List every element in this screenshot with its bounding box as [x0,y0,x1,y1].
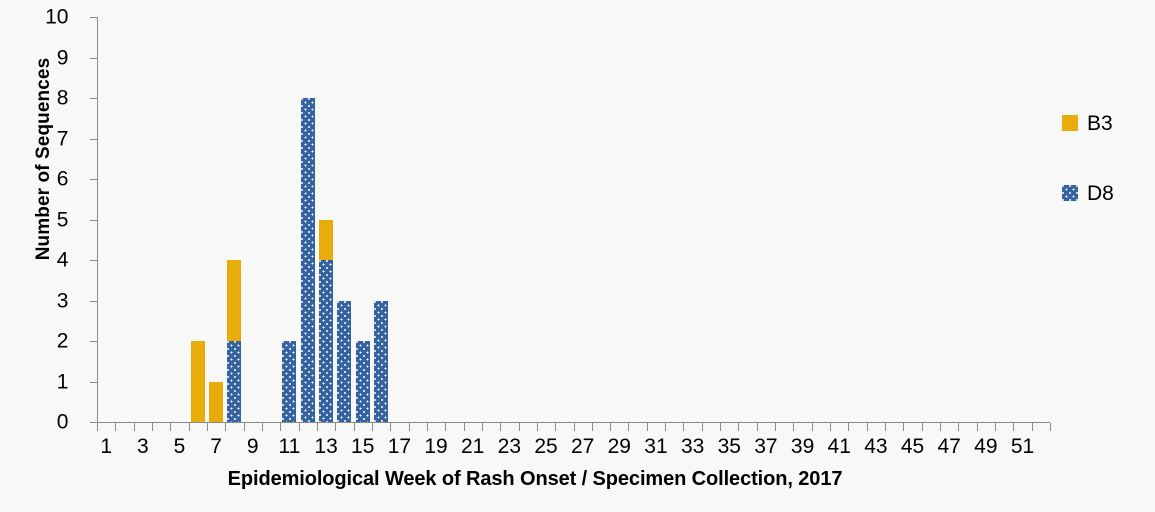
y-axis-tick-label: 8 [8,88,68,109]
x-axis-tick [97,423,98,431]
x-axis-title: Epidemiological Week of Rash Onset / Spe… [0,468,1070,491]
y-axis-tick [90,98,97,99]
x-axis-tick [922,423,923,431]
bar-stack [319,220,333,423]
bar-stack [227,260,241,422]
x-axis-tick [409,423,410,431]
y-axis-tick [90,220,97,221]
legend-swatch-icon [1062,115,1078,131]
bar-segment-d8 [319,260,333,422]
x-axis-tick [464,423,465,431]
bar-stack [301,98,315,422]
x-axis-tick [372,423,373,431]
y-axis-tick [90,382,97,383]
x-axis-tick [665,423,666,431]
x-axis-tick [647,423,648,431]
x-axis-tick [299,423,300,431]
legend: B3D8 [1062,112,1114,252]
x-axis-tick [574,423,575,431]
x-axis-tick [335,423,336,431]
y-axis-tick [90,58,97,59]
x-axis-tick [445,423,446,431]
x-axis-tick [1050,423,1051,431]
y-axis-tick [90,179,97,180]
plot-area: 012345678910 135791113151719212325272931… [97,17,1050,422]
x-axis-tick [262,423,263,431]
x-axis-tick [317,423,318,431]
legend-label: B3 [1087,113,1113,134]
bar-segment-d8 [301,98,315,422]
bar-stack [209,382,223,423]
bar-segment-b3 [227,260,241,341]
bar-segment-b3 [191,341,205,422]
x-axis-tick [427,423,428,431]
x-axis-tick [738,423,739,431]
y-axis-tick [90,301,97,302]
bar-segment-d8 [374,301,388,423]
x-axis-tick [867,423,868,431]
x-axis-tick [225,423,226,431]
legend-swatch-icon [1062,185,1078,201]
bar-segment-b3 [209,382,223,423]
bar-segment-d8 [282,341,296,422]
x-axis-tick [1013,423,1014,431]
bar-segment-b3 [319,220,333,261]
x-axis-tick-label: 51 [1000,436,1046,457]
x-axis-tick [482,423,483,431]
x-axis-tick [848,423,849,431]
y-axis-tick [90,341,97,342]
x-axis-tick [280,423,281,431]
y-axis-tick [90,260,97,261]
x-axis-tick [354,423,355,431]
x-axis-tick [500,423,501,431]
y-axis-tick-label: 4 [8,250,68,271]
y-axis-tick-label: 7 [8,128,68,149]
y-axis-tick-label: 3 [8,290,68,311]
x-axis-tick [830,423,831,431]
x-axis-tick [702,423,703,431]
x-axis-tick [977,423,978,431]
x-axis-tick [610,423,611,431]
y-axis-tick-label: 1 [8,371,68,392]
x-axis-tick [720,423,721,431]
legend-item-b3[interactable]: B3 [1062,112,1114,134]
x-axis-tick [207,423,208,431]
legend-item-d8[interactable]: D8 [1062,182,1114,204]
bar-segment-d8 [356,341,370,422]
legend-label: D8 [1087,183,1114,204]
x-axis-tick [995,423,996,431]
y-axis-tick-label: 9 [8,47,68,68]
x-axis-tick [793,423,794,431]
x-axis-tick [592,423,593,431]
x-axis-tick [390,423,391,431]
y-axis-line [97,17,98,423]
x-axis-tick [244,423,245,431]
x-axis-tick [115,423,116,431]
x-axis-tick [775,423,776,431]
bar-stack [282,341,296,422]
y-axis-tick-label: 2 [8,331,68,352]
x-axis-tick [134,423,135,431]
x-axis-tick [885,423,886,431]
bar-stack [191,341,205,422]
x-axis-tick [940,423,941,431]
x-axis-tick [1032,423,1033,431]
bar-stack [374,301,388,423]
x-axis-tick [519,423,520,431]
bar-segment-d8 [227,341,241,422]
y-axis-tick [90,17,97,18]
y-axis-tick-label: 6 [8,169,68,190]
x-axis-tick [958,423,959,431]
bar-stack [337,301,351,423]
x-axis-tick [555,423,556,431]
x-axis-tick [537,423,538,431]
y-axis-tick-label: 0 [8,412,68,433]
x-axis-tick [152,423,153,431]
y-axis-tick-label: 10 [8,7,68,28]
y-axis-tick [90,422,97,423]
x-axis-tick [903,423,904,431]
x-axis-tick [757,423,758,431]
y-axis-tick [90,139,97,140]
x-axis-tick [683,423,684,431]
x-axis-tick [170,423,171,431]
bar-stack [356,341,370,422]
x-axis-tick [189,423,190,431]
bar-segment-d8 [337,301,351,423]
y-axis-tick-label: 5 [8,209,68,230]
x-axis-tick [812,423,813,431]
bar-chart: Number of Sequences 012345678910 1357911… [0,0,1155,512]
x-axis-tick [628,423,629,431]
